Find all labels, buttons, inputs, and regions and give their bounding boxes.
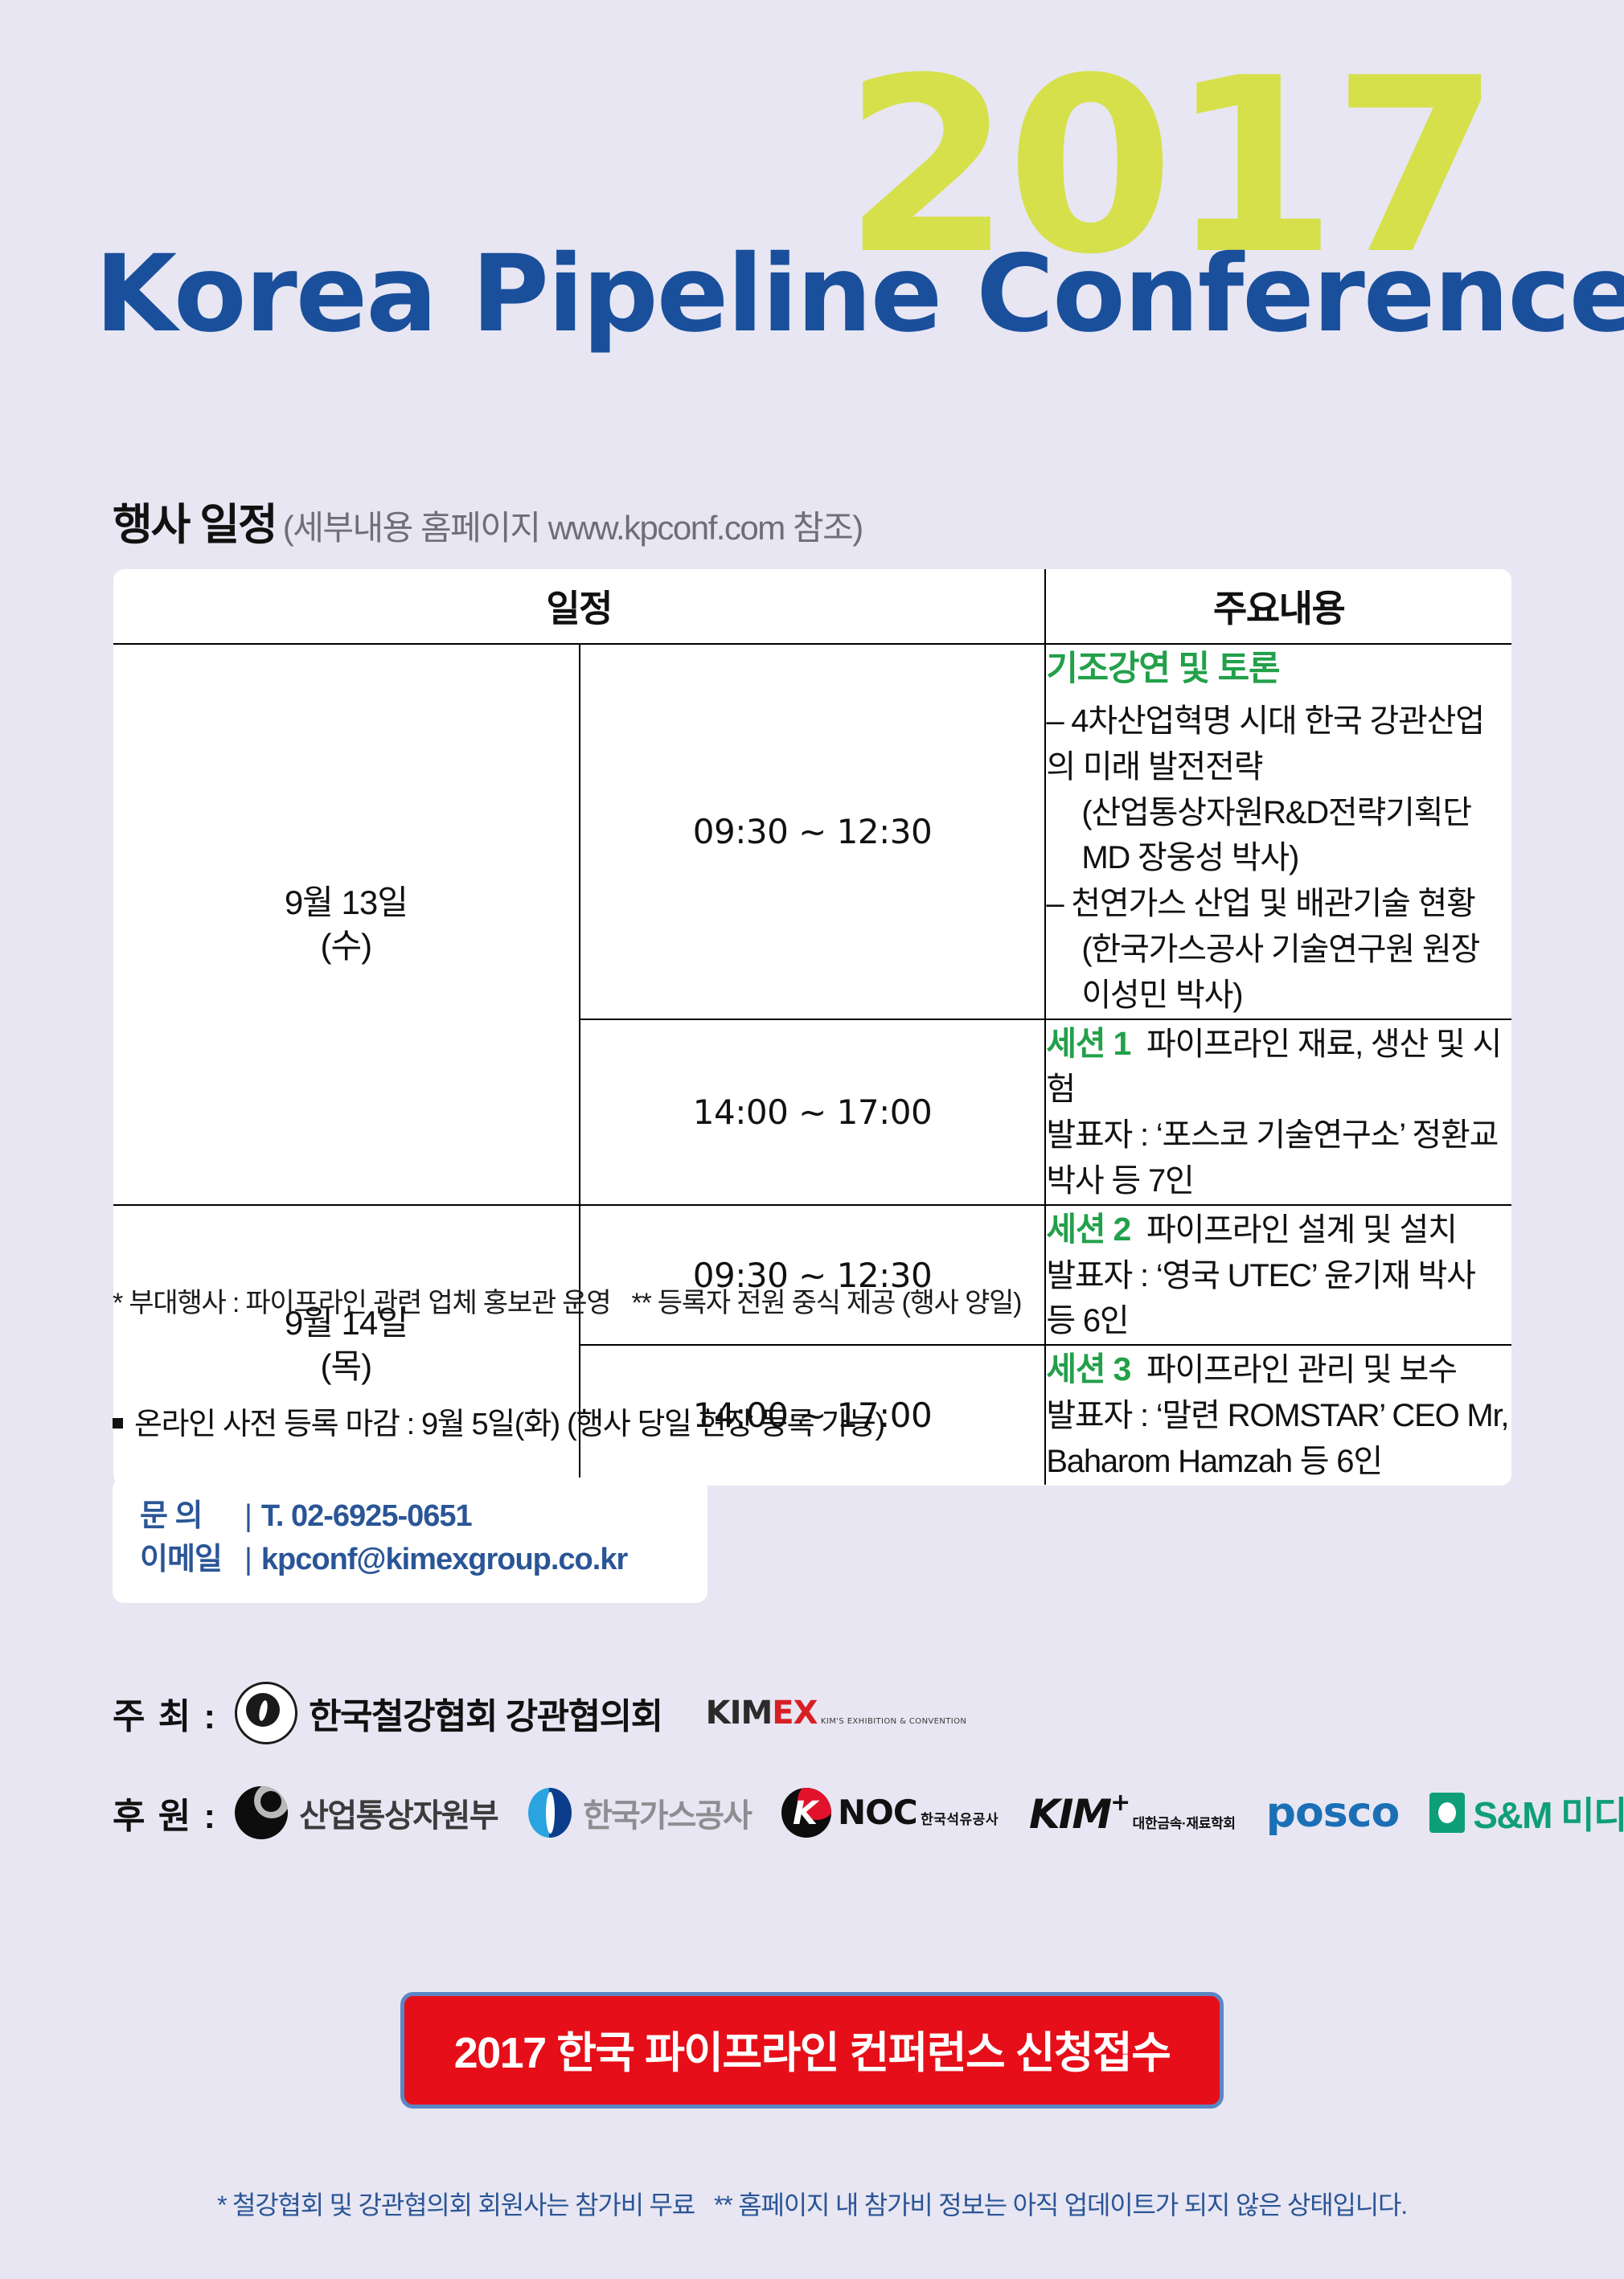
column-header-date: 일정	[113, 569, 1045, 644]
footer-notes: * 철강협회 및 강관협의회 회원사는 참가비 무료** 홈페이지 내 참가비 …	[0, 2185, 1624, 2222]
session-3-presenter: 발표자 : ‘말련 ROMSTAR’ CEO Mr, Baharom Hamza…	[1046, 1393, 1511, 1485]
organizer-logo-kisa: 한국철강협회 강관협의회	[235, 1682, 662, 1744]
sponsor-logo-sm-media: S&M 미디어(주)	[1429, 1786, 1624, 1839]
sponsor-subname-knoc: 한국석유공사	[921, 1812, 999, 1827]
day-weekday: (목)	[321, 1347, 372, 1385]
content-cell-session-1: 세션 1 파이프라인 재료, 생산 및 시험 발표자 : ‘포스코 기술연구소’…	[1045, 1019, 1511, 1205]
kim-plus-glyph: +	[1110, 1789, 1129, 1817]
organizer-name-kisa: 한국철강협회 강관협의회	[309, 1687, 662, 1739]
organizer-row: 주 최 : 한국철강협회 강관협의회 KIMEX KIM'S EXHIBITIO…	[113, 1682, 966, 1744]
contact-email-value[interactable]: kpconf@kimexgroup.co.kr	[261, 1543, 627, 1576]
table-row: 9월 13일 (수) 09:30 ~ 12:30 기조강연 및 토론 – 4차산…	[113, 644, 1511, 1019]
session-2-label: 세션 2	[1046, 1211, 1130, 1248]
session-1-presenter: 발표자 : ‘포스코 기술연구소’ 정환교 박사 등 7인	[1046, 1113, 1511, 1204]
kisa-seal-icon	[235, 1682, 297, 1744]
sponsor-name-kim: KIM+	[1029, 1791, 1129, 1838]
footnote-a: * 부대행사 : 파이프라인 관련 업체 홍보관 운영	[113, 1288, 610, 1318]
schedule-heading-main: 행사 일정	[113, 501, 277, 549]
time-cell: 09:30 ~ 12:30	[580, 644, 1046, 1019]
kim-word: KIM	[1029, 1791, 1110, 1838]
knoc-wordmark: NOC 한국석유공사	[838, 1796, 999, 1830]
apply-button[interactable]: 2017 한국 파이프라인 컨퍼런스 신청접수	[400, 1992, 1224, 2109]
sponsor-label: 후 원 :	[113, 1787, 217, 1838]
organizer-label: 주 최 :	[113, 1687, 217, 1739]
cta-container: 2017 한국 파이프라인 컨퍼런스 신청접수	[0, 1992, 1624, 2109]
contact-phone-row: 문 의|T. 02-6925-0651	[140, 1495, 680, 1539]
sponsor-row: 후 원 : 산업통상자원부 한국가스공사 NOC 한국석유공사 KIM+ 대한금…	[113, 1786, 1624, 1839]
keynote-title: 기조강연 및 토론	[1046, 645, 1511, 694]
day-date: 9월 13일	[285, 883, 408, 921]
content-cell-session-3: 세션 3 파이프라인 관리 및 보수 발표자 : ‘말련 ROMSTAR’ CE…	[1045, 1345, 1511, 1484]
content-cell-session-2: 세션 2 파이프라인 설계 및 설치 발표자 : ‘영국 UTEC’ 윤기재 박…	[1045, 1205, 1511, 1345]
session-1-label: 세션 1	[1046, 1025, 1130, 1062]
contact-separator: |	[244, 1499, 252, 1533]
square-bullet-icon	[113, 1418, 123, 1428]
session-3-heading: 세션 3 파이프라인 관리 및 보수	[1046, 1346, 1511, 1393]
session-3-topic: 파이프라인 관리 및 보수	[1146, 1352, 1457, 1387]
sponsor-logo-posco: posco	[1266, 1789, 1399, 1837]
contact-box: 문 의|T. 02-6925-0651 이메일|kpconf@kimexgrou…	[113, 1478, 707, 1603]
keynote-line-4: (한국가스공사 기술연구원 원장 이성민 박사)	[1046, 927, 1511, 1019]
sm-media-icon	[1429, 1793, 1465, 1833]
kimex-tagline: KIM'S EXHIBITION & CONVENTION	[821, 1717, 966, 1726]
day-weekday: (수)	[321, 927, 372, 965]
page-title: Korea Pipeline Conference	[95, 241, 1624, 347]
session-1-heading: 세션 1 파이프라인 재료, 생산 및 시험	[1046, 1020, 1511, 1113]
session-3-label: 세션 3	[1046, 1351, 1130, 1387]
sponsor-logo-kim: KIM+ 대한금속·재료학회	[1029, 1791, 1236, 1834]
sponsor-name-motie: 산업통상자원부	[299, 1789, 498, 1836]
schedule-heading: 행사 일정(세부내용 홈페이지 www.kpconf.com 참조)	[113, 489, 863, 552]
footer-note-a: * 철강협회 및 강관협의회 회원사는 참가비 무료	[217, 2191, 695, 2220]
kimex-wordmark-icon: KIMEX	[706, 1695, 818, 1732]
time-cell: 14:00 ~ 17:00	[580, 1019, 1046, 1205]
contact-phone-value: T. 02-6925-0651	[261, 1499, 472, 1533]
sponsor-logo-knoc: NOC 한국석유공사	[781, 1788, 999, 1838]
motie-taegeuk-icon	[235, 1786, 288, 1839]
posco-wordmark-icon: posco	[1266, 1789, 1399, 1837]
contact-phone-label: 문 의	[140, 1495, 235, 1539]
table-header-row: 일정 주요내용	[113, 569, 1511, 644]
day-cell-1: 9월 13일 (수)	[113, 644, 580, 1205]
content-cell-keynote: 기조강연 및 토론 – 4차산업혁명 시대 한국 강관산업의 미래 발전전략 (…	[1045, 644, 1511, 1019]
sponsor-subname-kim: 대한금속·재료학회	[1133, 1816, 1236, 1831]
keynote-line-3: – 천연가스 산업 및 배관기술 현황	[1046, 881, 1511, 927]
sponsor-name-knoc: NOC	[838, 1793, 917, 1832]
registration-deadline-text: 온라인 사전 등록 마감 : 9월 5일(화) (행사 당일 현장 등록 가능)	[134, 1408, 884, 1441]
column-header-content: 주요내용	[1045, 569, 1511, 644]
sponsor-logo-motie: 산업통상자원부	[235, 1786, 498, 1839]
keynote-line-2: (산업통상자원R&D전략기획단 MD 장웅성 박사)	[1046, 790, 1511, 882]
kim-plus-icon: KIM+ 대한금속·재료학회	[1029, 1791, 1236, 1834]
sponsor-name-kogas: 한국가스공사	[583, 1789, 751, 1836]
session-2-topic: 파이프라인 설계 및 설치	[1146, 1212, 1457, 1248]
contact-email-label: 이메일	[140, 1539, 235, 1582]
kogas-leaf-icon	[528, 1788, 572, 1838]
registration-deadline: 온라인 사전 등록 마감 : 9월 5일(화) (행사 당일 현장 등록 가능)	[113, 1399, 884, 1443]
schedule-table: 일정 주요내용 9월 13일 (수) 09:30 ~ 12:30 기조강연 및 …	[113, 569, 1511, 1486]
session-2-heading: 세션 2 파이프라인 설계 및 설치	[1046, 1206, 1511, 1253]
schedule-heading-sub: (세부내용 홈페이지 www.kpconf.com 참조)	[283, 509, 863, 547]
keynote-line-1: – 4차산업혁명 시대 한국 강관산업의 미래 발전전략	[1046, 699, 1511, 790]
poster-header: 2017 Korea Pipeline Conference	[0, 0, 1624, 434]
table-row: 9월 14일 (목) 09:30 ~ 12:30 세션 2 파이프라인 설계 및…	[113, 1205, 1511, 1345]
time-cell: 09:30 ~ 12:30	[580, 1205, 1046, 1345]
sponsor-name-sm-media: S&M 미디어(주)	[1473, 1786, 1624, 1839]
knoc-k-icon	[781, 1788, 831, 1838]
kimex-word-part-1: KIM	[706, 1695, 773, 1732]
schedule-footnotes: * 부대행사 : 파이프라인 관련 업체 홍보관 운영** 등록자 전원 중식 …	[113, 1281, 1021, 1320]
organizer-logo-kimex: KIMEX KIM'S EXHIBITION & CONVENTION	[706, 1697, 967, 1729]
footer-note-b: ** 홈페이지 내 참가비 정보는 아직 업데이트가 되지 않은 상태입니다.	[714, 2191, 1407, 2220]
contact-separator: |	[244, 1543, 252, 1576]
sponsor-logo-kogas: 한국가스공사	[528, 1788, 751, 1838]
contact-email-row: 이메일|kpconf@kimexgroup.co.kr	[140, 1539, 680, 1582]
kimex-word-part-2: EX	[772, 1695, 817, 1732]
footnote-b: ** 등록자 전원 중식 제공 (행사 양일)	[631, 1288, 1021, 1318]
session-2-presenter: 발표자 : ‘영국 UTEC’ 윤기재 박사 등 6인	[1046, 1253, 1511, 1345]
